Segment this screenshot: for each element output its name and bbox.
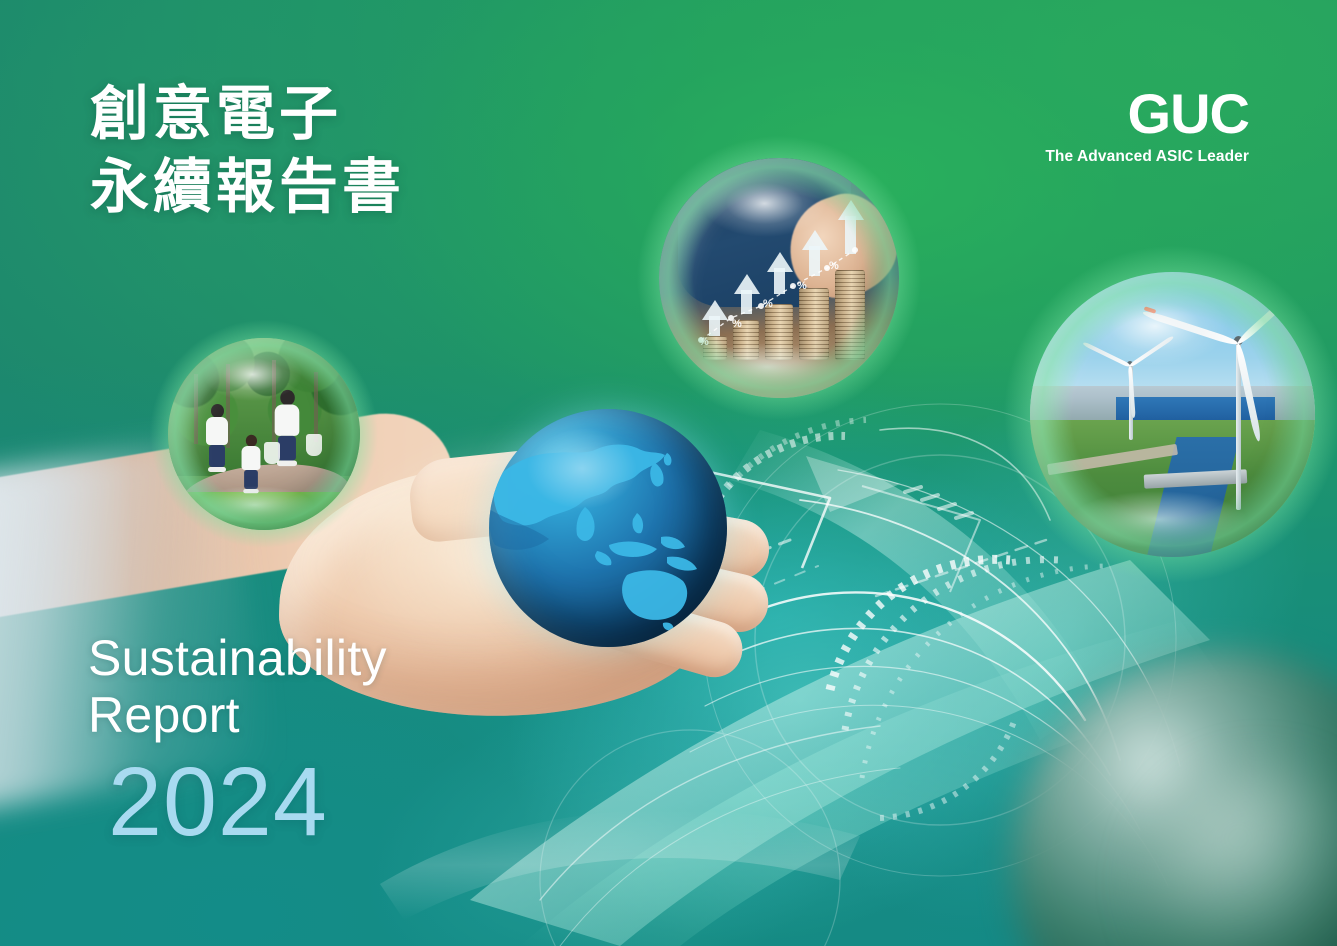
page-title-chinese: 創意電子 永續報告書 xyxy=(90,78,405,224)
report-year: 2024 xyxy=(108,750,328,854)
guc-logo: GUC The Advanced ASIC Leader xyxy=(1045,86,1249,166)
globe-icon xyxy=(489,409,727,647)
governance-bubble: % % % % % xyxy=(659,158,899,398)
report-cover: % % % % % xyxy=(0,0,1337,946)
logo-wordmark: GUC xyxy=(1045,86,1249,142)
wind-turbine-scene xyxy=(1030,272,1315,557)
coins-growth-scene: % % % % % xyxy=(659,158,899,398)
environment-bubble xyxy=(1030,272,1315,557)
person-adult-left xyxy=(206,404,228,472)
family-scene xyxy=(168,338,360,530)
person-child xyxy=(242,435,261,493)
page-title-english: Sustainability Report xyxy=(88,630,387,744)
logo-tagline: The Advanced ASIC Leader xyxy=(1045,148,1249,166)
globe-specular-highlight xyxy=(527,428,636,509)
social-bubble xyxy=(168,338,360,530)
